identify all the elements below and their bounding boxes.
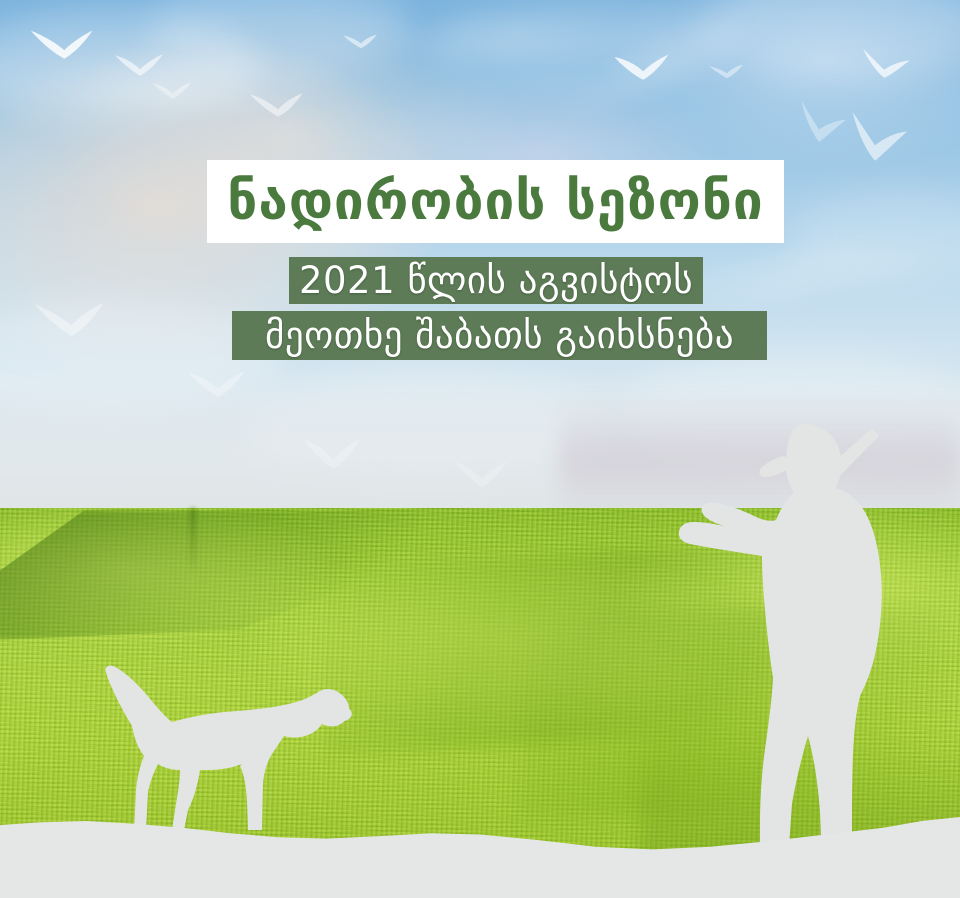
pointer-dog-silhouette: [100, 660, 358, 846]
subtitle-band-line-1: 2021 წლის აგვისტოს: [289, 257, 703, 304]
bird-icon: [855, 44, 913, 84]
page-title: ნადირობის სეზონი: [227, 175, 764, 228]
bird-icon: [150, 76, 194, 104]
bird-icon: [612, 50, 672, 88]
subtitle-band-line-2: მეოთხე შაბათს გაიხსნება: [232, 311, 767, 360]
hunter-silhouette: [676, 412, 926, 860]
subtitle-line-1: 2021 წლის აგვისტოს: [299, 262, 693, 299]
bird-icon: [248, 88, 306, 124]
bird-icon: [452, 452, 510, 496]
bird-icon: [340, 28, 380, 54]
field-ridge-edge: [190, 508, 196, 574]
bird-icon: [840, 108, 910, 166]
subtitle-line-2: მეოთხე შაბათს გაიხსნება: [265, 317, 734, 354]
poster-canvas: ნადირობის სეზონი 2021 წლის აგვისტოს მეოთ…: [0, 0, 960, 898]
bird-icon: [300, 430, 364, 478]
bird-icon: [28, 24, 98, 68]
title-box: ნადირობის სეზონი: [207, 160, 784, 243]
bird-icon: [186, 364, 248, 406]
bird-icon: [706, 58, 746, 84]
bird-icon: [32, 296, 108, 346]
